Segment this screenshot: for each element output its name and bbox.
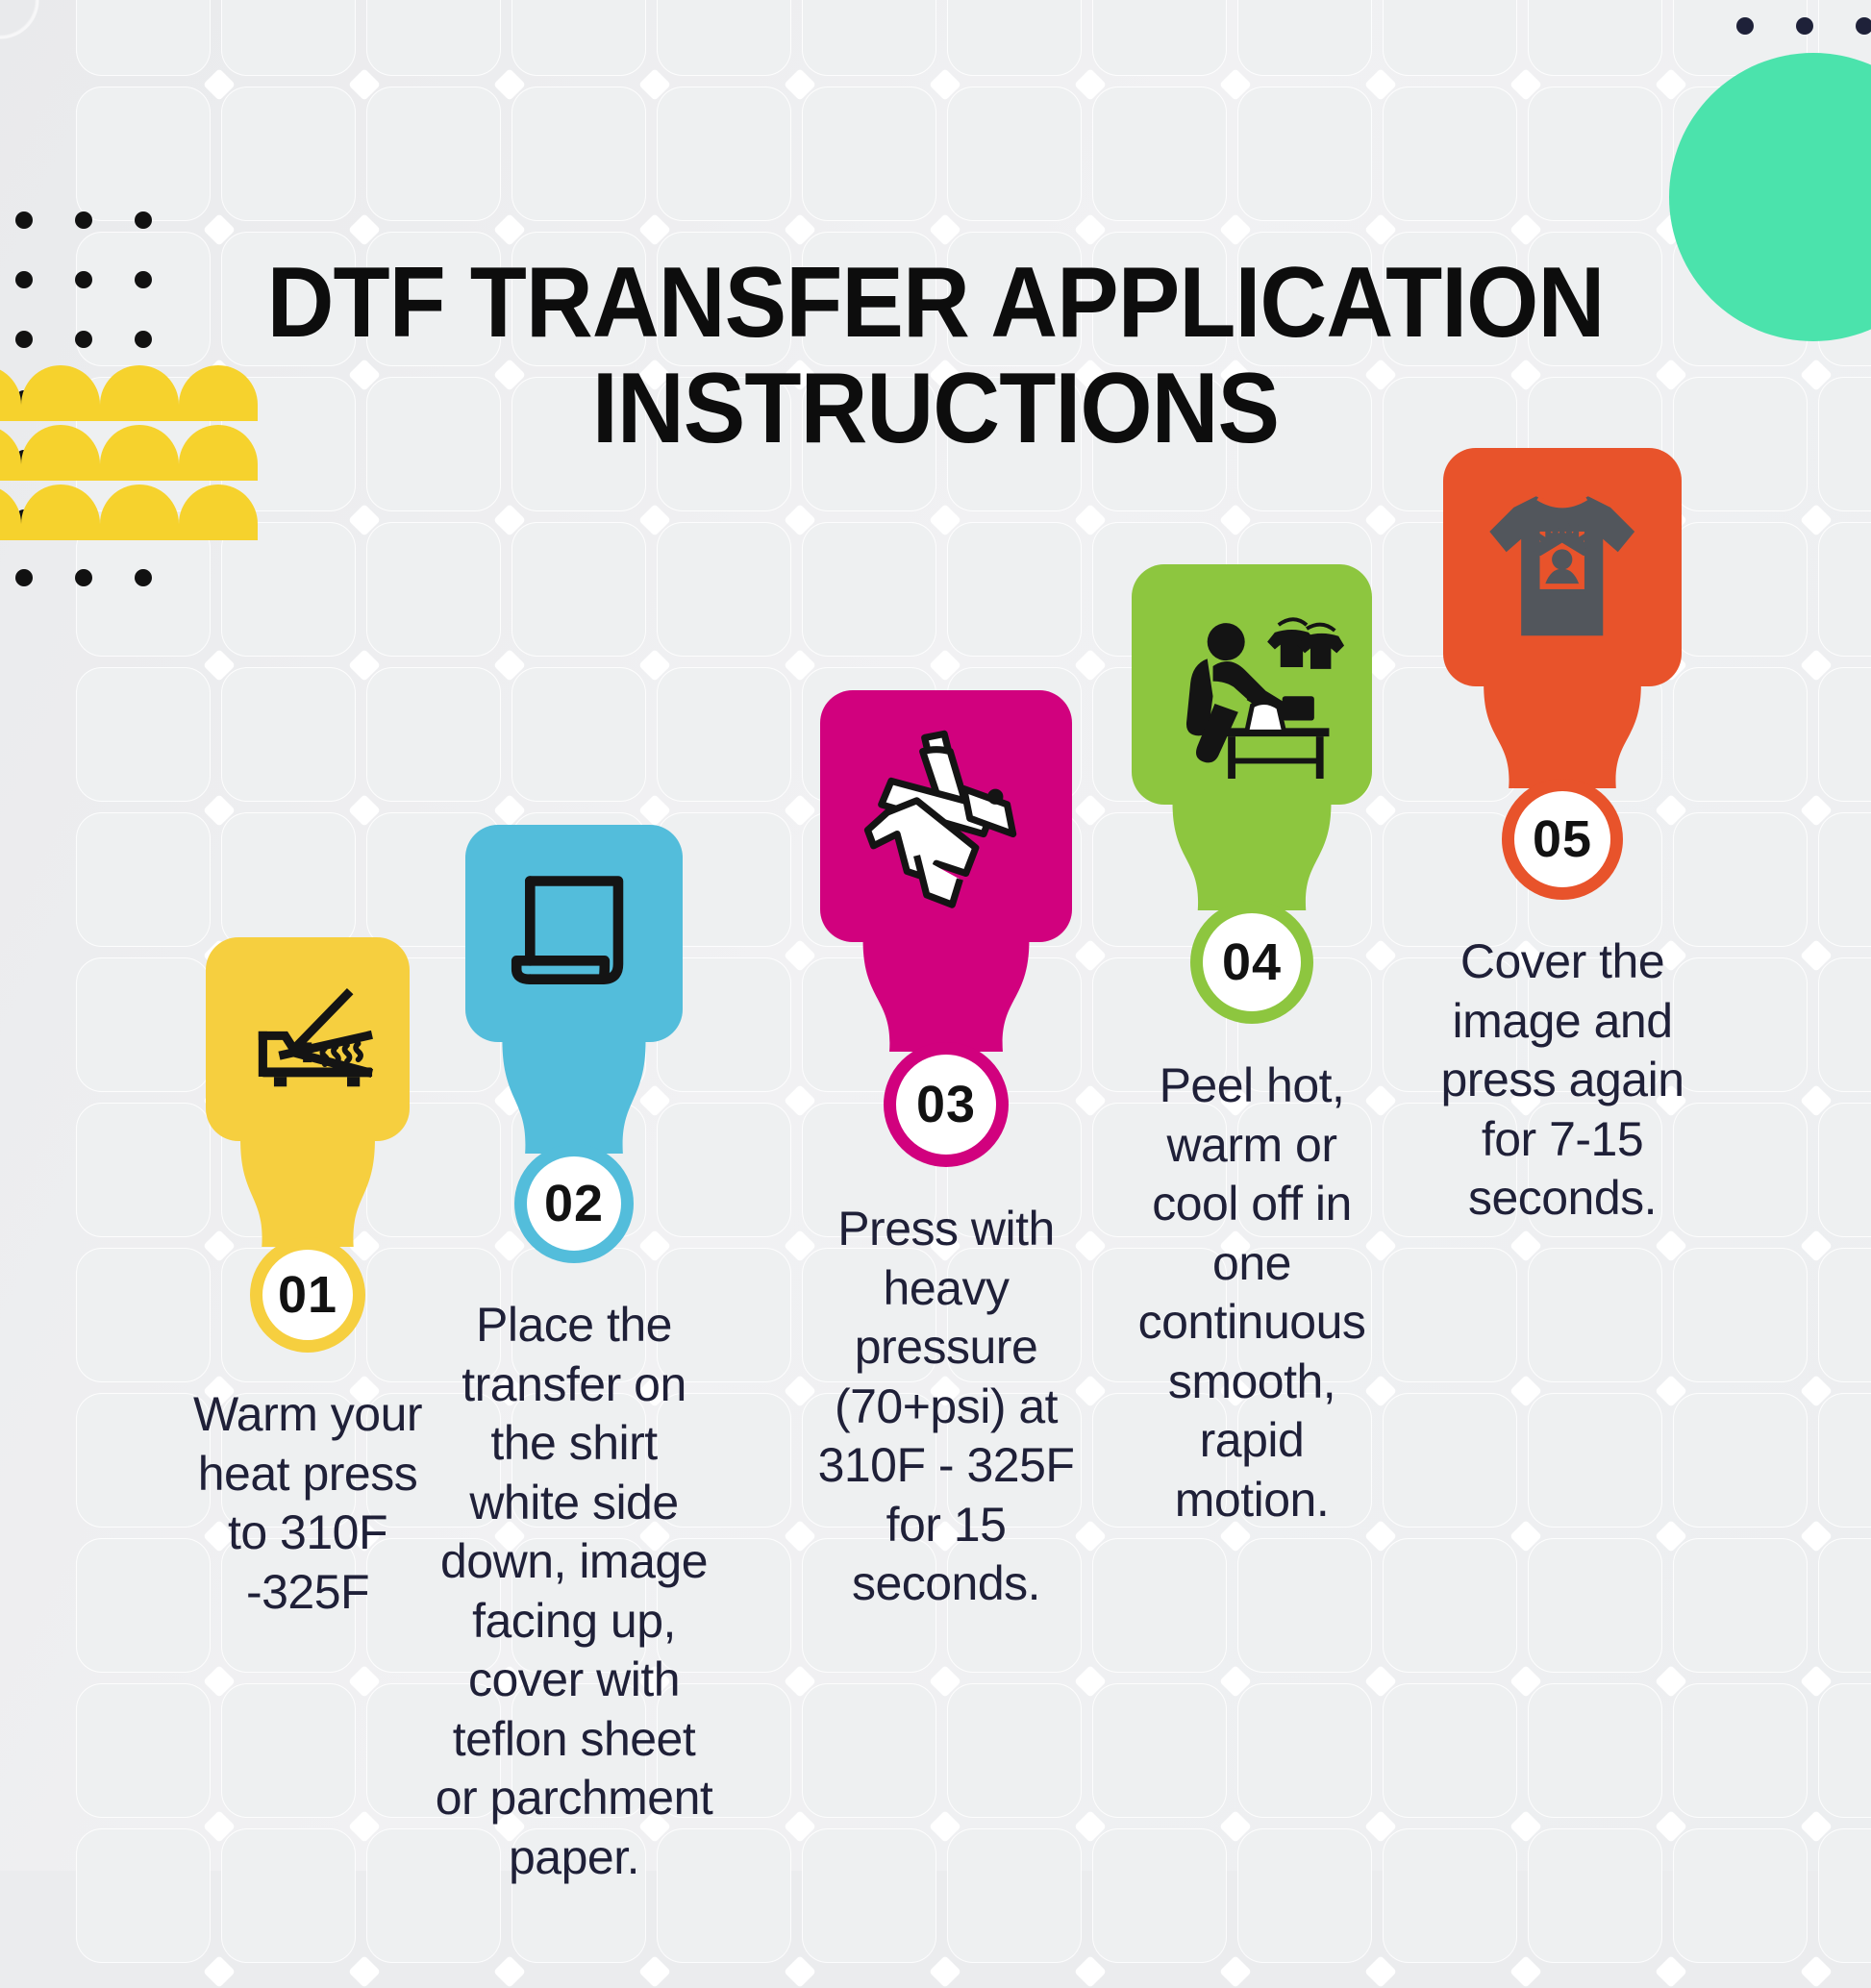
person-pressing-icon (1159, 591, 1346, 779)
step-04-icon-card[interactable] (1132, 564, 1372, 805)
step-05-number-badge[interactable]: 05 (1502, 779, 1623, 900)
step-01-description: Warm your heat press to 310F -325F (187, 1385, 428, 1622)
step-03[interactable]: 03Press with heavy pressure (70+psi) at … (817, 690, 1075, 1662)
step-05-description: Cover the image and press again for 7-15… (1439, 932, 1685, 1229)
step-02-number-badge[interactable]: 02 (514, 1144, 634, 1263)
step-01[interactable]: 01Warm your heat press to 310F -325F (187, 937, 428, 1670)
step-02-icon-card[interactable] (465, 825, 683, 1042)
heat-press-open-icon (228, 959, 387, 1118)
step-03-icon-card[interactable] (820, 690, 1072, 942)
step-04-description: Peel hot, warm or cool off in one contin… (1128, 1056, 1376, 1529)
step-02[interactable]: 02Place the transfer on the shirt white … (435, 825, 713, 1935)
step-02-description: Place the transfer on the shirt white si… (435, 1296, 713, 1887)
background-tile-joint (1800, 1955, 1833, 1988)
step-02-connector (465, 1040, 683, 1154)
step-01-icon-card[interactable] (206, 937, 410, 1141)
background-tile-joint (1364, 1955, 1397, 1988)
step-01-number-badge[interactable]: 01 (250, 1237, 365, 1353)
step-03-description: Press with heavy pressure (70+psi) at 31… (817, 1200, 1075, 1614)
step-01-connector (206, 1139, 410, 1247)
step-05-connector (1443, 684, 1682, 788)
step-05-icon-card[interactable] (1443, 448, 1682, 686)
background-tile-joint (1655, 1955, 1687, 1988)
step-03-number-badge[interactable]: 03 (884, 1042, 1009, 1167)
step-05[interactable]: 05Cover the image and press again for 7-… (1439, 448, 1685, 1277)
step-03-connector (820, 940, 1072, 1052)
step-04-connector (1132, 803, 1372, 910)
background-tile-joint (348, 1955, 381, 1988)
background-tile-joint (784, 1955, 816, 1988)
background-tile-joint (1219, 1955, 1252, 1988)
background-tile-joint (1509, 1955, 1542, 1988)
background-tile-joint (203, 1955, 236, 1988)
transfer-sheet-icon (489, 849, 659, 1018)
page-title: DTF TRANSFER APPLICATION INSTRUCTIONS (65, 250, 1806, 461)
background-tile-joint (1074, 1955, 1107, 1988)
step-04-number-badge[interactable]: 04 (1190, 901, 1313, 1024)
background-tile-joint (638, 1955, 671, 1988)
printed-tshirt-icon (1469, 474, 1655, 659)
step-04[interactable]: 04Peel hot, warm or cool off in one cont… (1128, 564, 1376, 1578)
background-tile-joint (493, 1955, 526, 1988)
heat-press-shirt-icon (848, 718, 1044, 914)
background-tile-joint (929, 1955, 961, 1988)
